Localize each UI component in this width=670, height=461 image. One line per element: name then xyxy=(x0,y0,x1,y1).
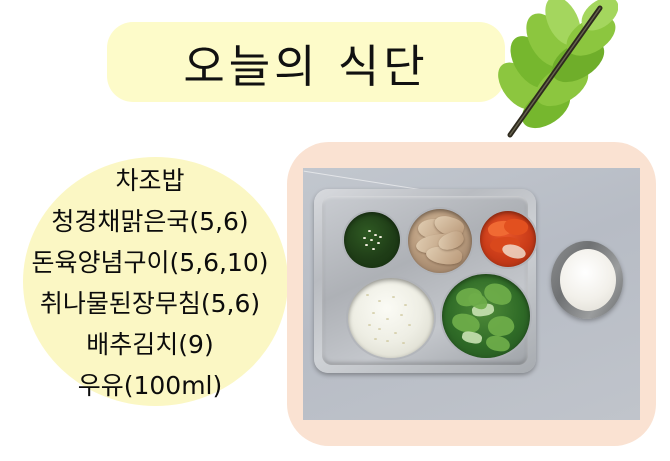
menu-item: 배추김치(9) xyxy=(86,324,213,365)
tray-compartment-namul xyxy=(344,212,400,268)
milk-surface xyxy=(560,249,616,311)
tray-compartment-kimchi xyxy=(480,211,536,267)
tray-compartment-rice xyxy=(348,278,434,358)
menu-list: 차조밥 청경채맑은국(5,6) 돈육양념구이(5,6,10) 취나물된장무침(5… xyxy=(0,160,300,406)
menu-item: 취나물된장무침(5,6) xyxy=(40,283,260,324)
menu-item: 차조밥 xyxy=(115,160,184,201)
lunch-tray-photo xyxy=(303,168,640,420)
tray-compartment-pork xyxy=(408,209,472,273)
menu-item: 돈육양념구이(5,6,10) xyxy=(31,242,268,283)
lunch-tray xyxy=(314,189,536,373)
photo-glare xyxy=(304,171,423,191)
menu-item: 청경채맑은국(5,6) xyxy=(51,201,248,242)
milk-cup xyxy=(551,241,623,319)
tray-inner-surface xyxy=(322,196,528,365)
tray-compartment-soup xyxy=(442,274,530,358)
page-title: 오늘의 식단 xyxy=(107,22,505,102)
leaf-branch-icon xyxy=(488,0,618,145)
menu-item: 우유(100ml) xyxy=(78,365,223,406)
